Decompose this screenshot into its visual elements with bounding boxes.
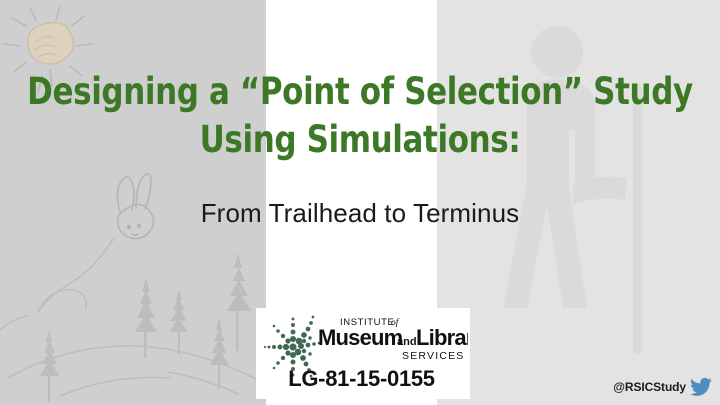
social-handle-block[interactable]: @RSICStudy <box>613 377 712 397</box>
slide-title: Designing a “Point of Selection” Study U… <box>0 68 720 164</box>
title-line-2: Using Simulations: <box>25 116 695 164</box>
logo-museum-text: Museum <box>318 325 403 350</box>
logo-library-text: Library <box>416 325 468 350</box>
twitter-bird-icon[interactable] <box>690 377 712 397</box>
imls-logo-box: INSTITUTE of Museum and Library SERVICES… <box>256 308 470 399</box>
slide-subtitle: From Trailhead to Terminus <box>0 196 720 230</box>
logo-services-text: SERVICES <box>402 350 465 362</box>
presentation-slide: Designing a “Point of Selection” Study U… <box>0 0 720 405</box>
imls-wordmark: INSTITUTE of Museum and Library SERVICES <box>318 313 468 365</box>
twitter-handle-text: @RSICStudy <box>613 380 686 394</box>
grant-number: LG-81-15-0155 <box>256 366 467 392</box>
logo-and-text: and <box>397 336 417 348</box>
title-line-1: Designing a “Point of Selection” Study <box>25 68 695 116</box>
